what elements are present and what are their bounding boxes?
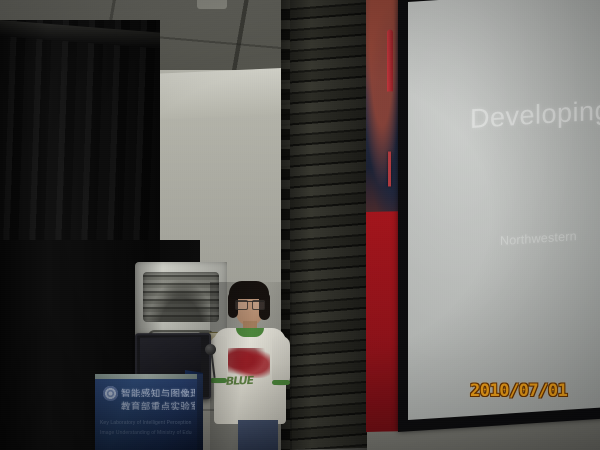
camera-date-stamp: 2010/07/01 xyxy=(470,381,567,401)
podium-shading xyxy=(95,374,203,450)
microphone-head xyxy=(205,344,216,355)
banner-rod xyxy=(387,29,393,91)
photograph-canvas: Developing Northwestern BLUE 智能感知与图像理解 教… xyxy=(0,0,600,450)
slide-title: Developing xyxy=(470,95,600,135)
ceiling-fixture xyxy=(197,0,227,9)
banner-handle xyxy=(388,151,391,186)
slat-column-shading xyxy=(281,0,367,450)
speaker-shading xyxy=(210,282,292,450)
slide-subtitle: Northwestern xyxy=(500,229,577,248)
projected-slide-content: Developing Northwestern xyxy=(408,0,600,420)
